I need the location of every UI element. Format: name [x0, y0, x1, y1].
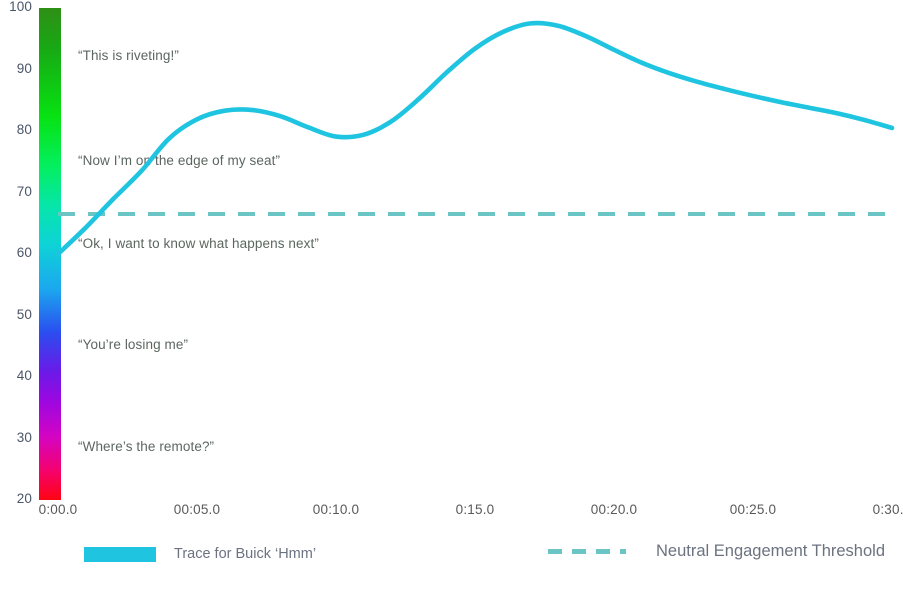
legend-item-threshold[interactable]: Neutral Engagement Threshold — [548, 542, 885, 561]
legend-swatch-trace-icon — [84, 547, 156, 562]
legend-label-trace: Trace for Buick ‘Hmm’ — [174, 546, 316, 562]
chart-legend: Trace for Buick ‘Hmm’ Neutral Engagement… — [0, 540, 903, 590]
legend-label-threshold: Neutral Engagement Threshold — [656, 542, 885, 561]
legend-swatch-threshold-icon — [548, 549, 626, 554]
plot-area: 1009080706050403020 0:00.000:05.000:10.0… — [0, 0, 903, 512]
engagement-trace-chart: 1009080706050403020 0:00.000:05.000:10.0… — [0, 0, 903, 600]
series-layer — [0, 0, 903, 512]
legend-item-trace[interactable]: Trace for Buick ‘Hmm’ — [84, 546, 316, 562]
engagement-trace-line — [58, 23, 892, 254]
